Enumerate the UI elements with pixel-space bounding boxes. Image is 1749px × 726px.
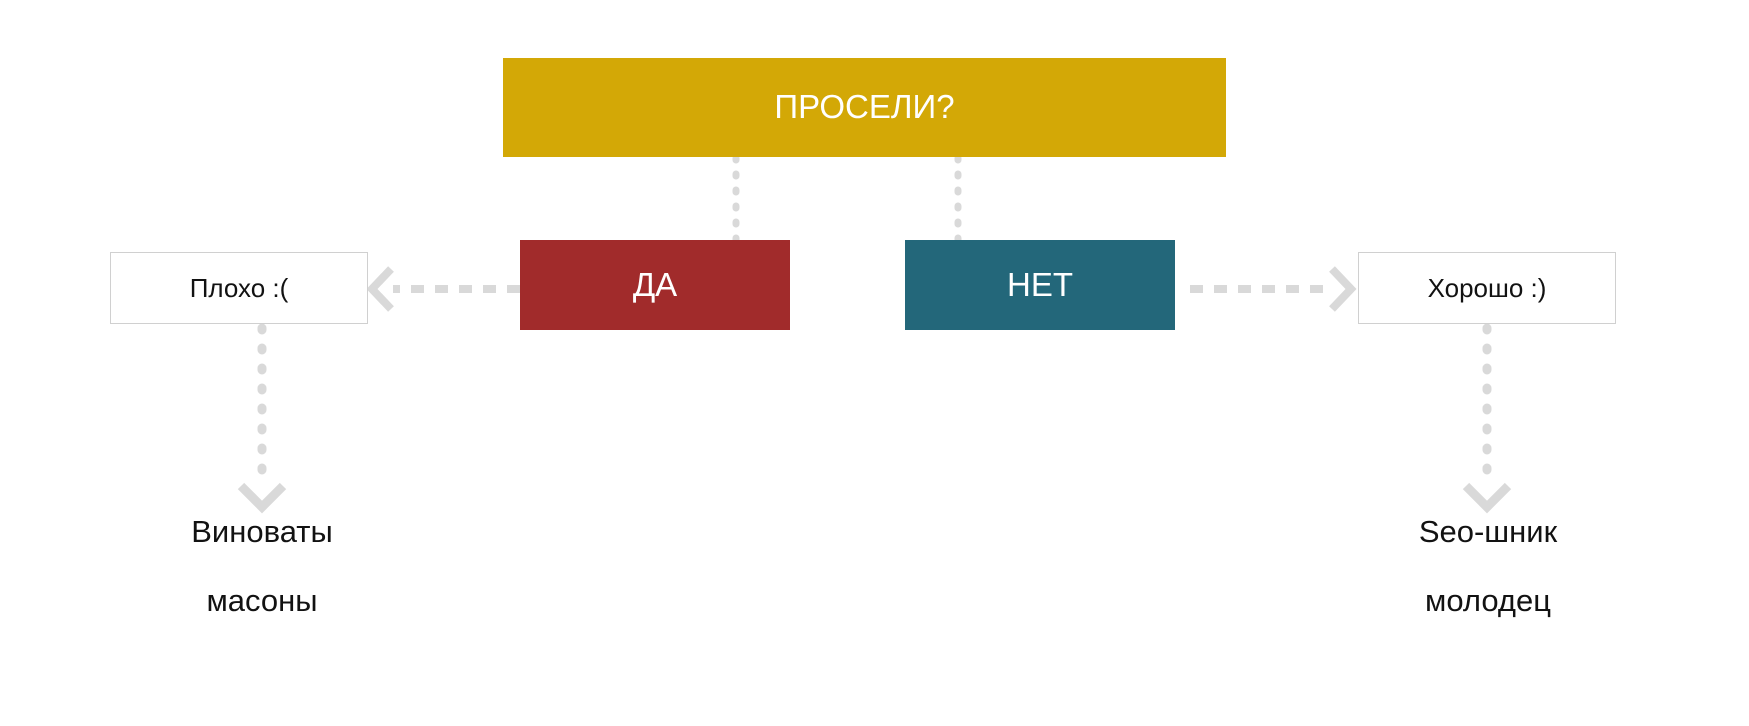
arrowhead-yes-to-bad <box>372 269 391 309</box>
caption-seo: Seo-шник молодец <box>1318 516 1658 616</box>
node-good[interactable]: Хорошо :) <box>1358 252 1616 324</box>
node-yes[interactable]: ДА <box>520 240 790 330</box>
caption-masons-line1: Виноваты <box>92 516 432 547</box>
node-question[interactable]: ПРОСЕЛИ? <box>503 58 1226 157</box>
node-no-label: НЕТ <box>1007 267 1073 303</box>
arrowhead-good-to-seo <box>1466 486 1508 507</box>
node-question-label: ПРОСЕЛИ? <box>774 89 954 125</box>
caption-masons: Виноваты масоны <box>92 516 432 616</box>
node-yes-label: ДА <box>633 267 677 303</box>
caption-seo-line2: молодец <box>1318 585 1658 616</box>
node-good-label: Хорошо :) <box>1428 274 1547 303</box>
diagram-canvas: ПРОСЕЛИ? ДА НЕТ Плохо :( Хорошо :) Винов… <box>0 0 1749 726</box>
node-bad-label: Плохо :( <box>190 274 289 303</box>
caption-masons-line2: масоны <box>92 585 432 616</box>
node-bad[interactable]: Плохо :( <box>110 252 368 324</box>
caption-seo-line1: Seo-шник <box>1318 516 1658 547</box>
node-no[interactable]: НЕТ <box>905 240 1175 330</box>
arrowhead-bad-to-masons <box>241 486 283 507</box>
arrowhead-no-to-good <box>1332 269 1351 309</box>
